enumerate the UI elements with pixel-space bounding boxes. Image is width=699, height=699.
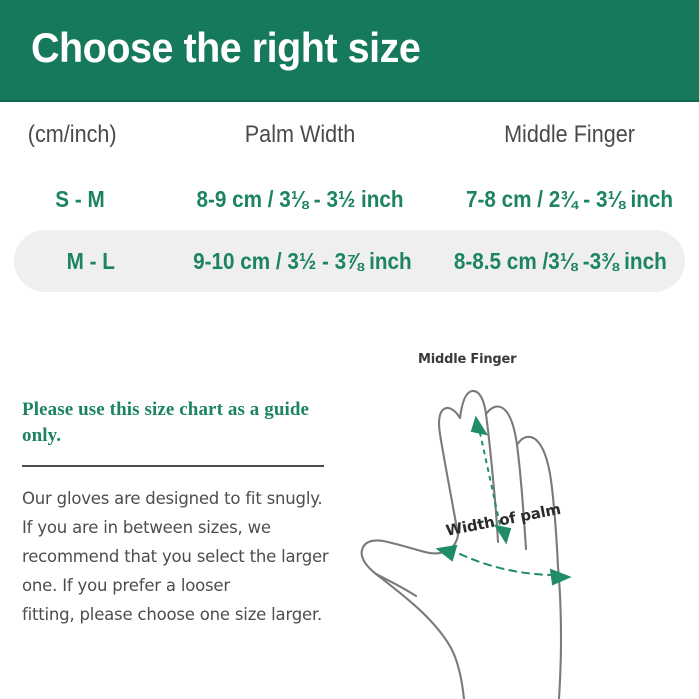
note-body-line: fitting, please choose one size larger.: [22, 600, 342, 629]
cell-palm-width: 9-10 cm / 3½ - 3⅞ inch: [181, 248, 423, 275]
table-header-row: (cm/inch) Palm Width Middle Finger: [0, 102, 699, 168]
column-header-palm-width: Palm Width: [174, 121, 426, 149]
cell-middle-finger: 7-8 cm / 2¾ - 3⅛ inch: [453, 186, 686, 213]
table-row: S - M 8-9 cm / 3⅛ - 3½ inch 7-8 cm / 2¾ …: [0, 168, 699, 230]
note-body-line: If you are in between sizes, we: [22, 513, 342, 542]
page-header-banner: Choose the right size: [0, 0, 699, 102]
column-header-middle-finger: Middle Finger: [453, 121, 686, 149]
note-body-line: recommend that you select the larger: [22, 542, 342, 571]
note-body-line: one. If you prefer a looser: [22, 571, 342, 600]
cell-size: M - L: [22, 248, 160, 275]
note-body: Our gloves are designed to fit snugly. I…: [22, 484, 342, 629]
arrowhead-up: [472, 418, 486, 434]
arrowhead-right: [551, 570, 569, 584]
table-row: M - L 9-10 cm / 3½ - 3⅞ inch 8-8.5 cm /3…: [14, 230, 685, 292]
page-title: Choose the right size: [31, 24, 420, 72]
guidance-note: Please use this size chart as a guide on…: [22, 397, 342, 629]
note-heading: Please use this size chart as a guide on…: [22, 397, 342, 449]
note-divider: [22, 465, 324, 467]
cell-middle-finger: 8-8.5 cm /3⅛ -3⅜ inch: [449, 248, 673, 275]
note-body-line: Our gloves are designed to fit snugly.: [22, 484, 342, 513]
cell-size: S - M: [8, 186, 152, 213]
size-chart-table: (cm/inch) Palm Width Middle Finger S - M…: [0, 102, 699, 292]
column-header-unit: (cm/inch): [8, 121, 152, 149]
lower-section: Please use this size chart as a guide on…: [0, 330, 699, 699]
cell-palm-width: 8-9 cm / 3⅛ - 3½ inch: [174, 186, 426, 213]
hand-measurement-diagram: Middle Finger: [350, 330, 699, 699]
diagram-label-middle-finger: Middle Finger: [418, 352, 516, 367]
